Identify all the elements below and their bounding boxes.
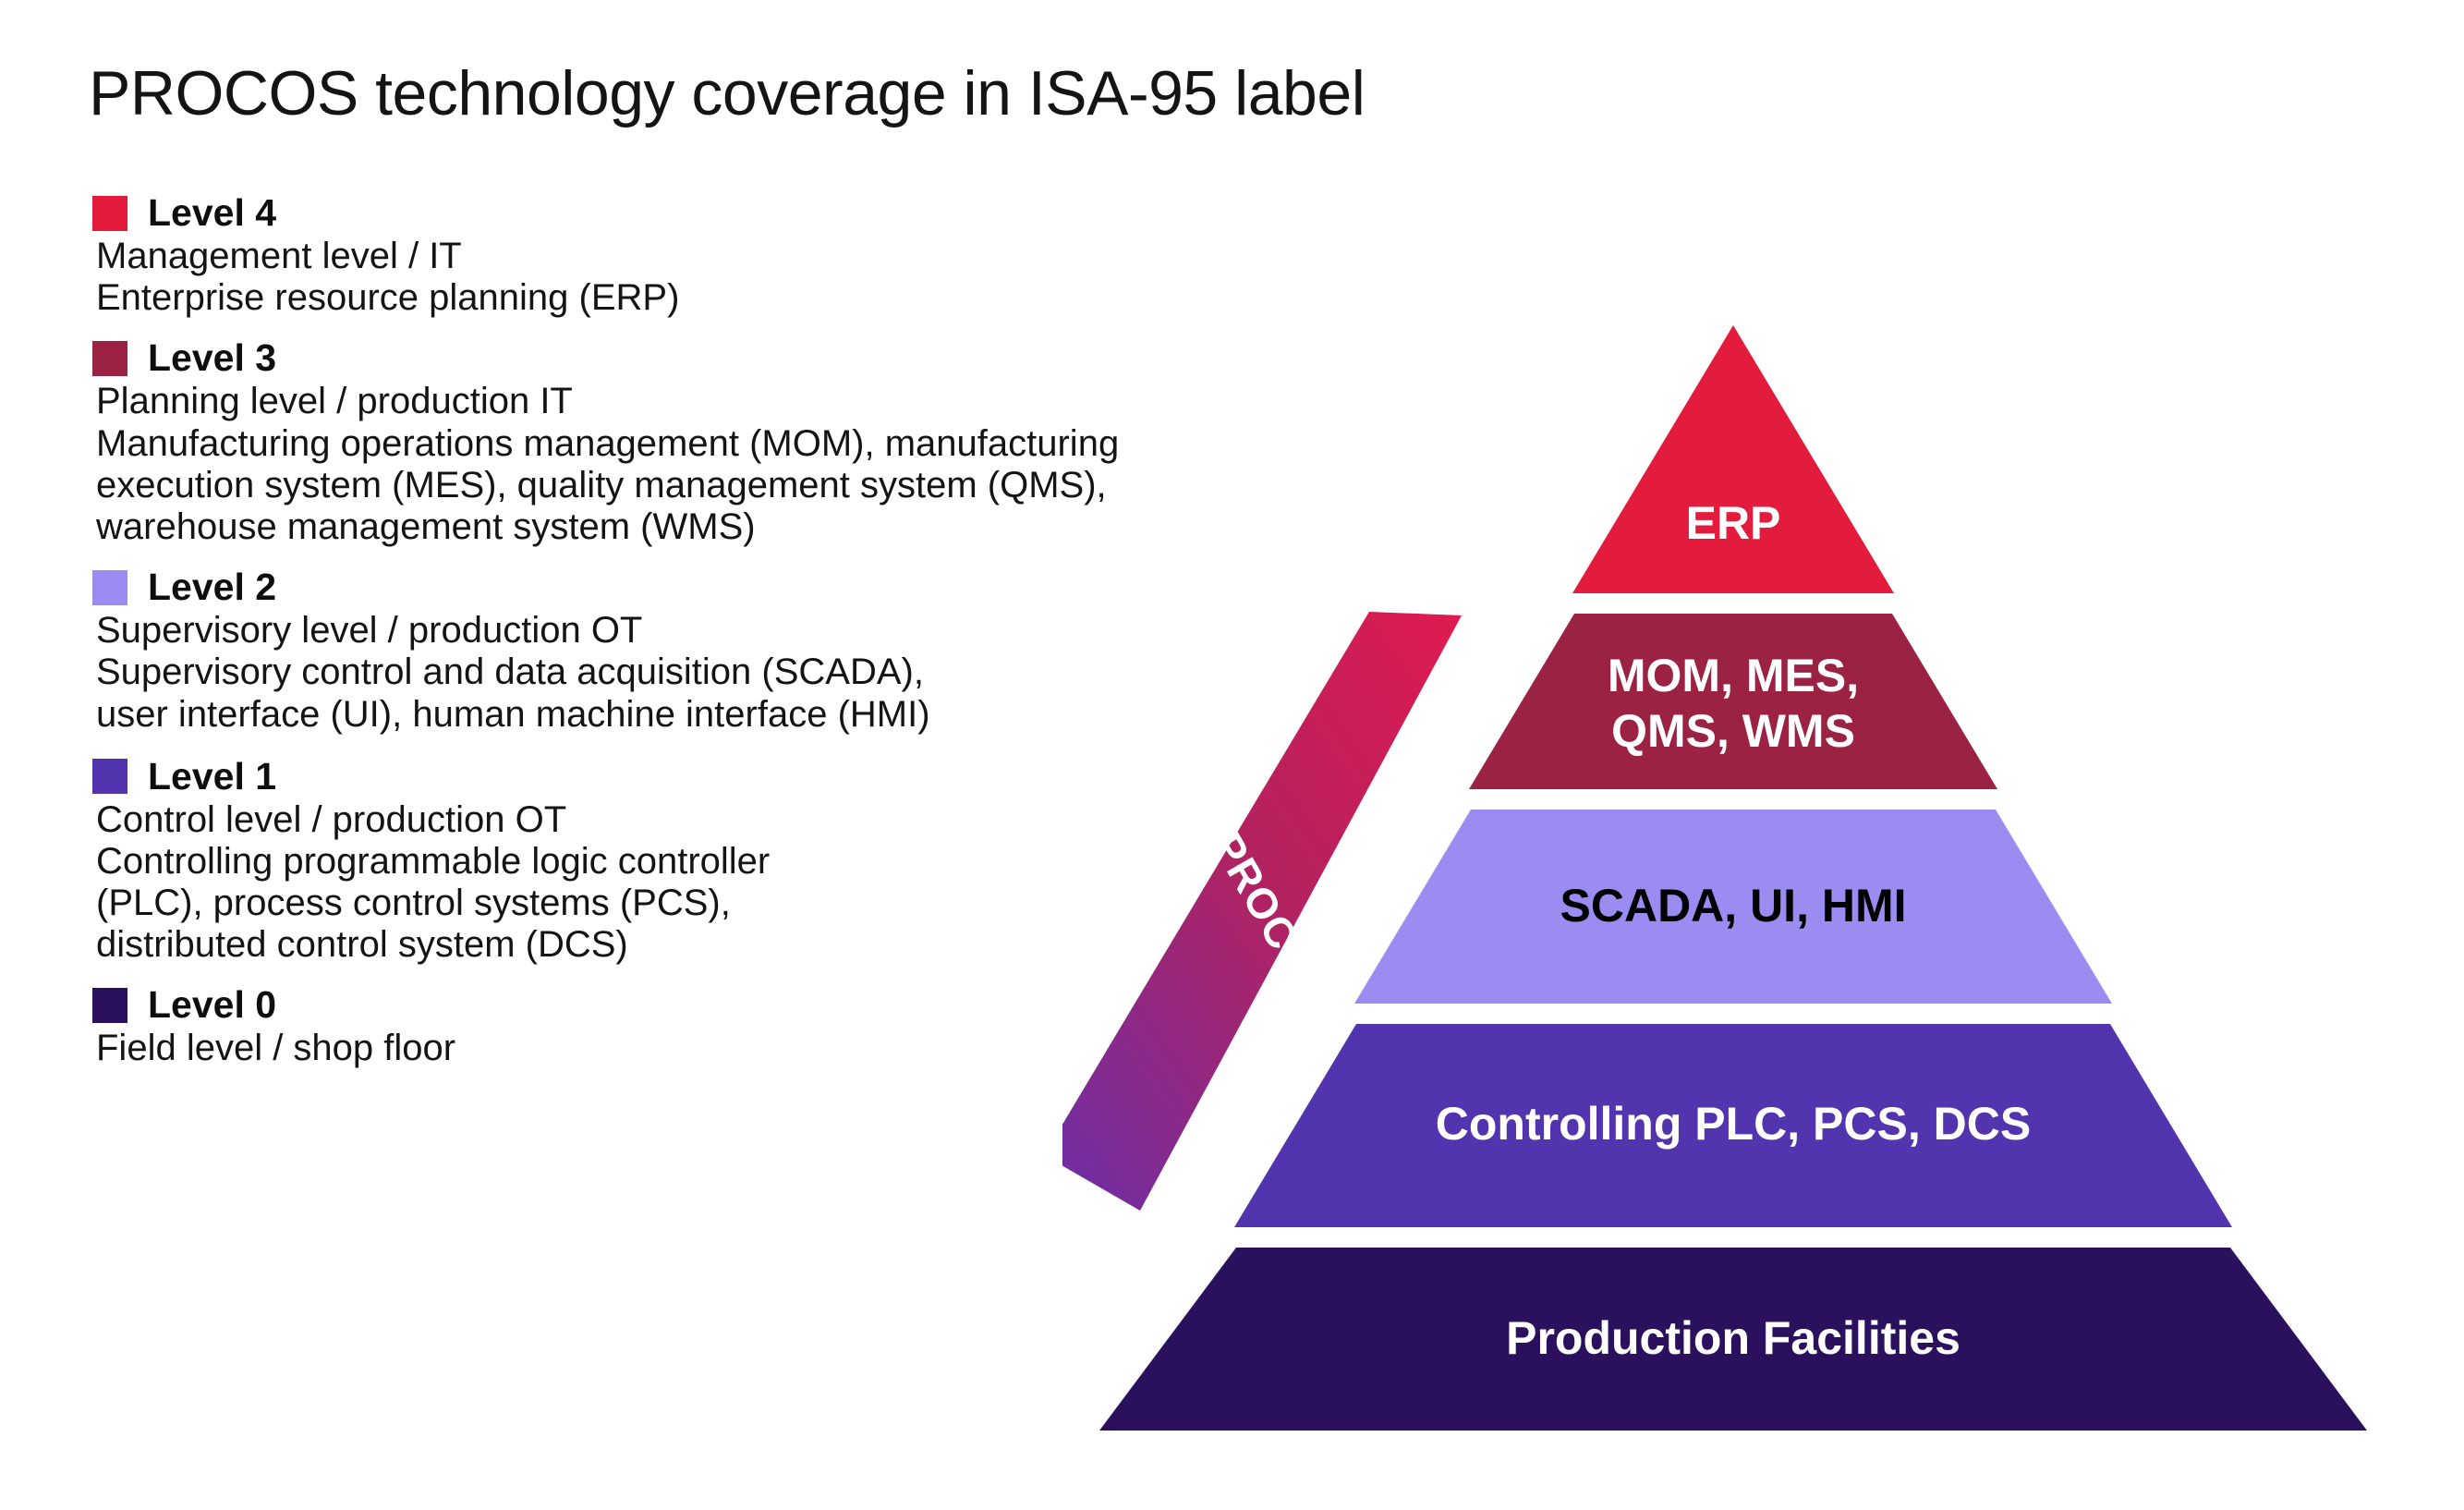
legend-item-level-4: Level 4 Management level / IT Enterprise…	[92, 194, 1109, 319]
legend-label-level-2: Level 2	[148, 568, 276, 606]
legend-item-level-2: Level 2 Supervisory level / production O…	[92, 568, 1109, 736]
legend-swatch-level-0-icon	[92, 988, 127, 1023]
legend-swatch-level-1-icon	[92, 759, 127, 794]
legend-head-level-3: Level 3	[92, 339, 1109, 377]
legend-item-level-1: Level 1 Control level / production OT Co…	[92, 758, 1109, 967]
legend-desc-line: Supervisory control and data acquisition…	[96, 651, 1109, 693]
pyramid-band-production-label: Production Facilities	[1506, 1312, 1960, 1364]
pyramid-band-scada-label: SCADA, UI, HMI	[1560, 880, 1907, 932]
legend-item-level-3: Level 3 Planning level / production IT M…	[92, 339, 1109, 548]
legend-desc-line: user interface (UI), human machine inter…	[96, 694, 1109, 736]
pyramid-band-mom-label-line2: QMS, WMS	[1611, 705, 1855, 757]
legend-desc-line: distributed control system (DCS)	[96, 924, 1109, 966]
legend-label-level-4: Level 4	[148, 194, 276, 232]
legend-desc-line: Control level / production OT	[96, 799, 1109, 841]
legend-desc-line: Manufacturing operations management (MOM…	[96, 423, 1109, 465]
legend-desc-level-0: Field level / shop floor	[96, 1028, 1109, 1069]
pyramid-band-erp	[1572, 325, 1894, 593]
legend-head-level-2: Level 2	[92, 568, 1109, 606]
legend-desc-line: Field level / shop floor	[96, 1028, 1109, 1069]
legend-desc-line: Controlling programmable logic controlle…	[96, 841, 1109, 883]
legend-label-level-3: Level 3	[148, 339, 276, 377]
legend-desc-line: Enterprise resource planning (ERP)	[96, 277, 1109, 319]
legend-desc-line: execution system (MES), quality manageme…	[96, 465, 1109, 506]
legend-desc-line: Supervisory level / production OT	[96, 610, 1109, 651]
legend-panel: Level 4 Management level / IT Enterprise…	[92, 194, 1109, 1070]
legend-desc-line: warehouse management system (WMS)	[96, 506, 1109, 548]
legend-desc-line: (PLC), process control systems (PCS),	[96, 883, 1109, 924]
legend-desc-level-1: Control level / production OT Controllin…	[96, 799, 1109, 967]
legend-swatch-level-4-icon	[92, 196, 127, 231]
legend-head-level-0: Level 0	[92, 986, 1109, 1024]
legend-head-level-4: Level 4	[92, 194, 1109, 232]
legend-head-level-1: Level 1	[92, 758, 1109, 796]
legend-desc-line: Management level / IT	[96, 236, 1109, 277]
pyramid-band-mom-label-line1: MOM, MES,	[1608, 650, 1859, 701]
legend-desc-level-2: Supervisory level / production OT Superv…	[96, 610, 1109, 736]
page-title: PROCOS technology coverage in ISA-95 lab…	[89, 57, 1365, 129]
isa95-pyramid-diagram: ERP MOM, MES, QMS, WMS SCADA, UI, HMI Co…	[1062, 305, 2448, 1451]
legend-swatch-level-3-icon	[92, 341, 127, 376]
pyramid-band-erp-label: ERP	[1686, 497, 1781, 549]
legend-desc-level-4: Management level / IT Enterprise resourc…	[96, 236, 1109, 319]
legend-desc-line: Planning level / production IT	[96, 381, 1109, 422]
legend-label-level-0: Level 0	[148, 986, 276, 1024]
legend-swatch-level-2-icon	[92, 570, 127, 605]
legend-label-level-1: Level 1	[148, 758, 276, 796]
legend-desc-level-3: Planning level / production IT Manufactu…	[96, 381, 1109, 548]
pyramid-band-plc-label: Controlling PLC, PCS, DCS	[1436, 1098, 2031, 1150]
pyramid-svg: ERP MOM, MES, QMS, WMS SCADA, UI, HMI Co…	[1062, 305, 2448, 1451]
legend-item-level-0: Level 0 Field level / shop floor	[92, 986, 1109, 1069]
